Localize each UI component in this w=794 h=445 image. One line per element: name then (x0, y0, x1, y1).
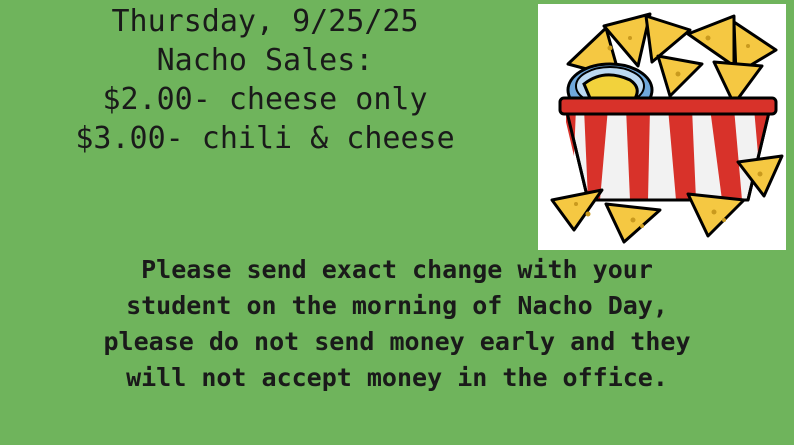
announcement-line-title: Nacho Sales: (0, 41, 530, 80)
instructions-block: Please send exact change with your stude… (0, 252, 794, 396)
instructions-line-3: please do not send money early and they (0, 324, 794, 360)
announcement-block: Thursday, 9/25/25 Nacho Sales: $2.00- ch… (0, 0, 530, 158)
announcement-line-price-cheese: $2.00- cheese only (0, 80, 530, 119)
announcement-line-date: Thursday, 9/25/25 (0, 2, 530, 41)
nacho-basket-illustration (538, 4, 786, 250)
announcement-line-price-chili-cheese: $3.00- chili & cheese (0, 119, 530, 158)
nacho-sale-poster: Thursday, 9/25/25 Nacho Sales: $2.00- ch… (0, 0, 794, 445)
instructions-line-4: will not accept money in the office. (0, 360, 794, 396)
instructions-line-2: student on the morning of Nacho Day, (0, 288, 794, 324)
instructions-line-1: Please send exact change with your (0, 252, 794, 288)
nacho-basket-icon (538, 4, 786, 250)
